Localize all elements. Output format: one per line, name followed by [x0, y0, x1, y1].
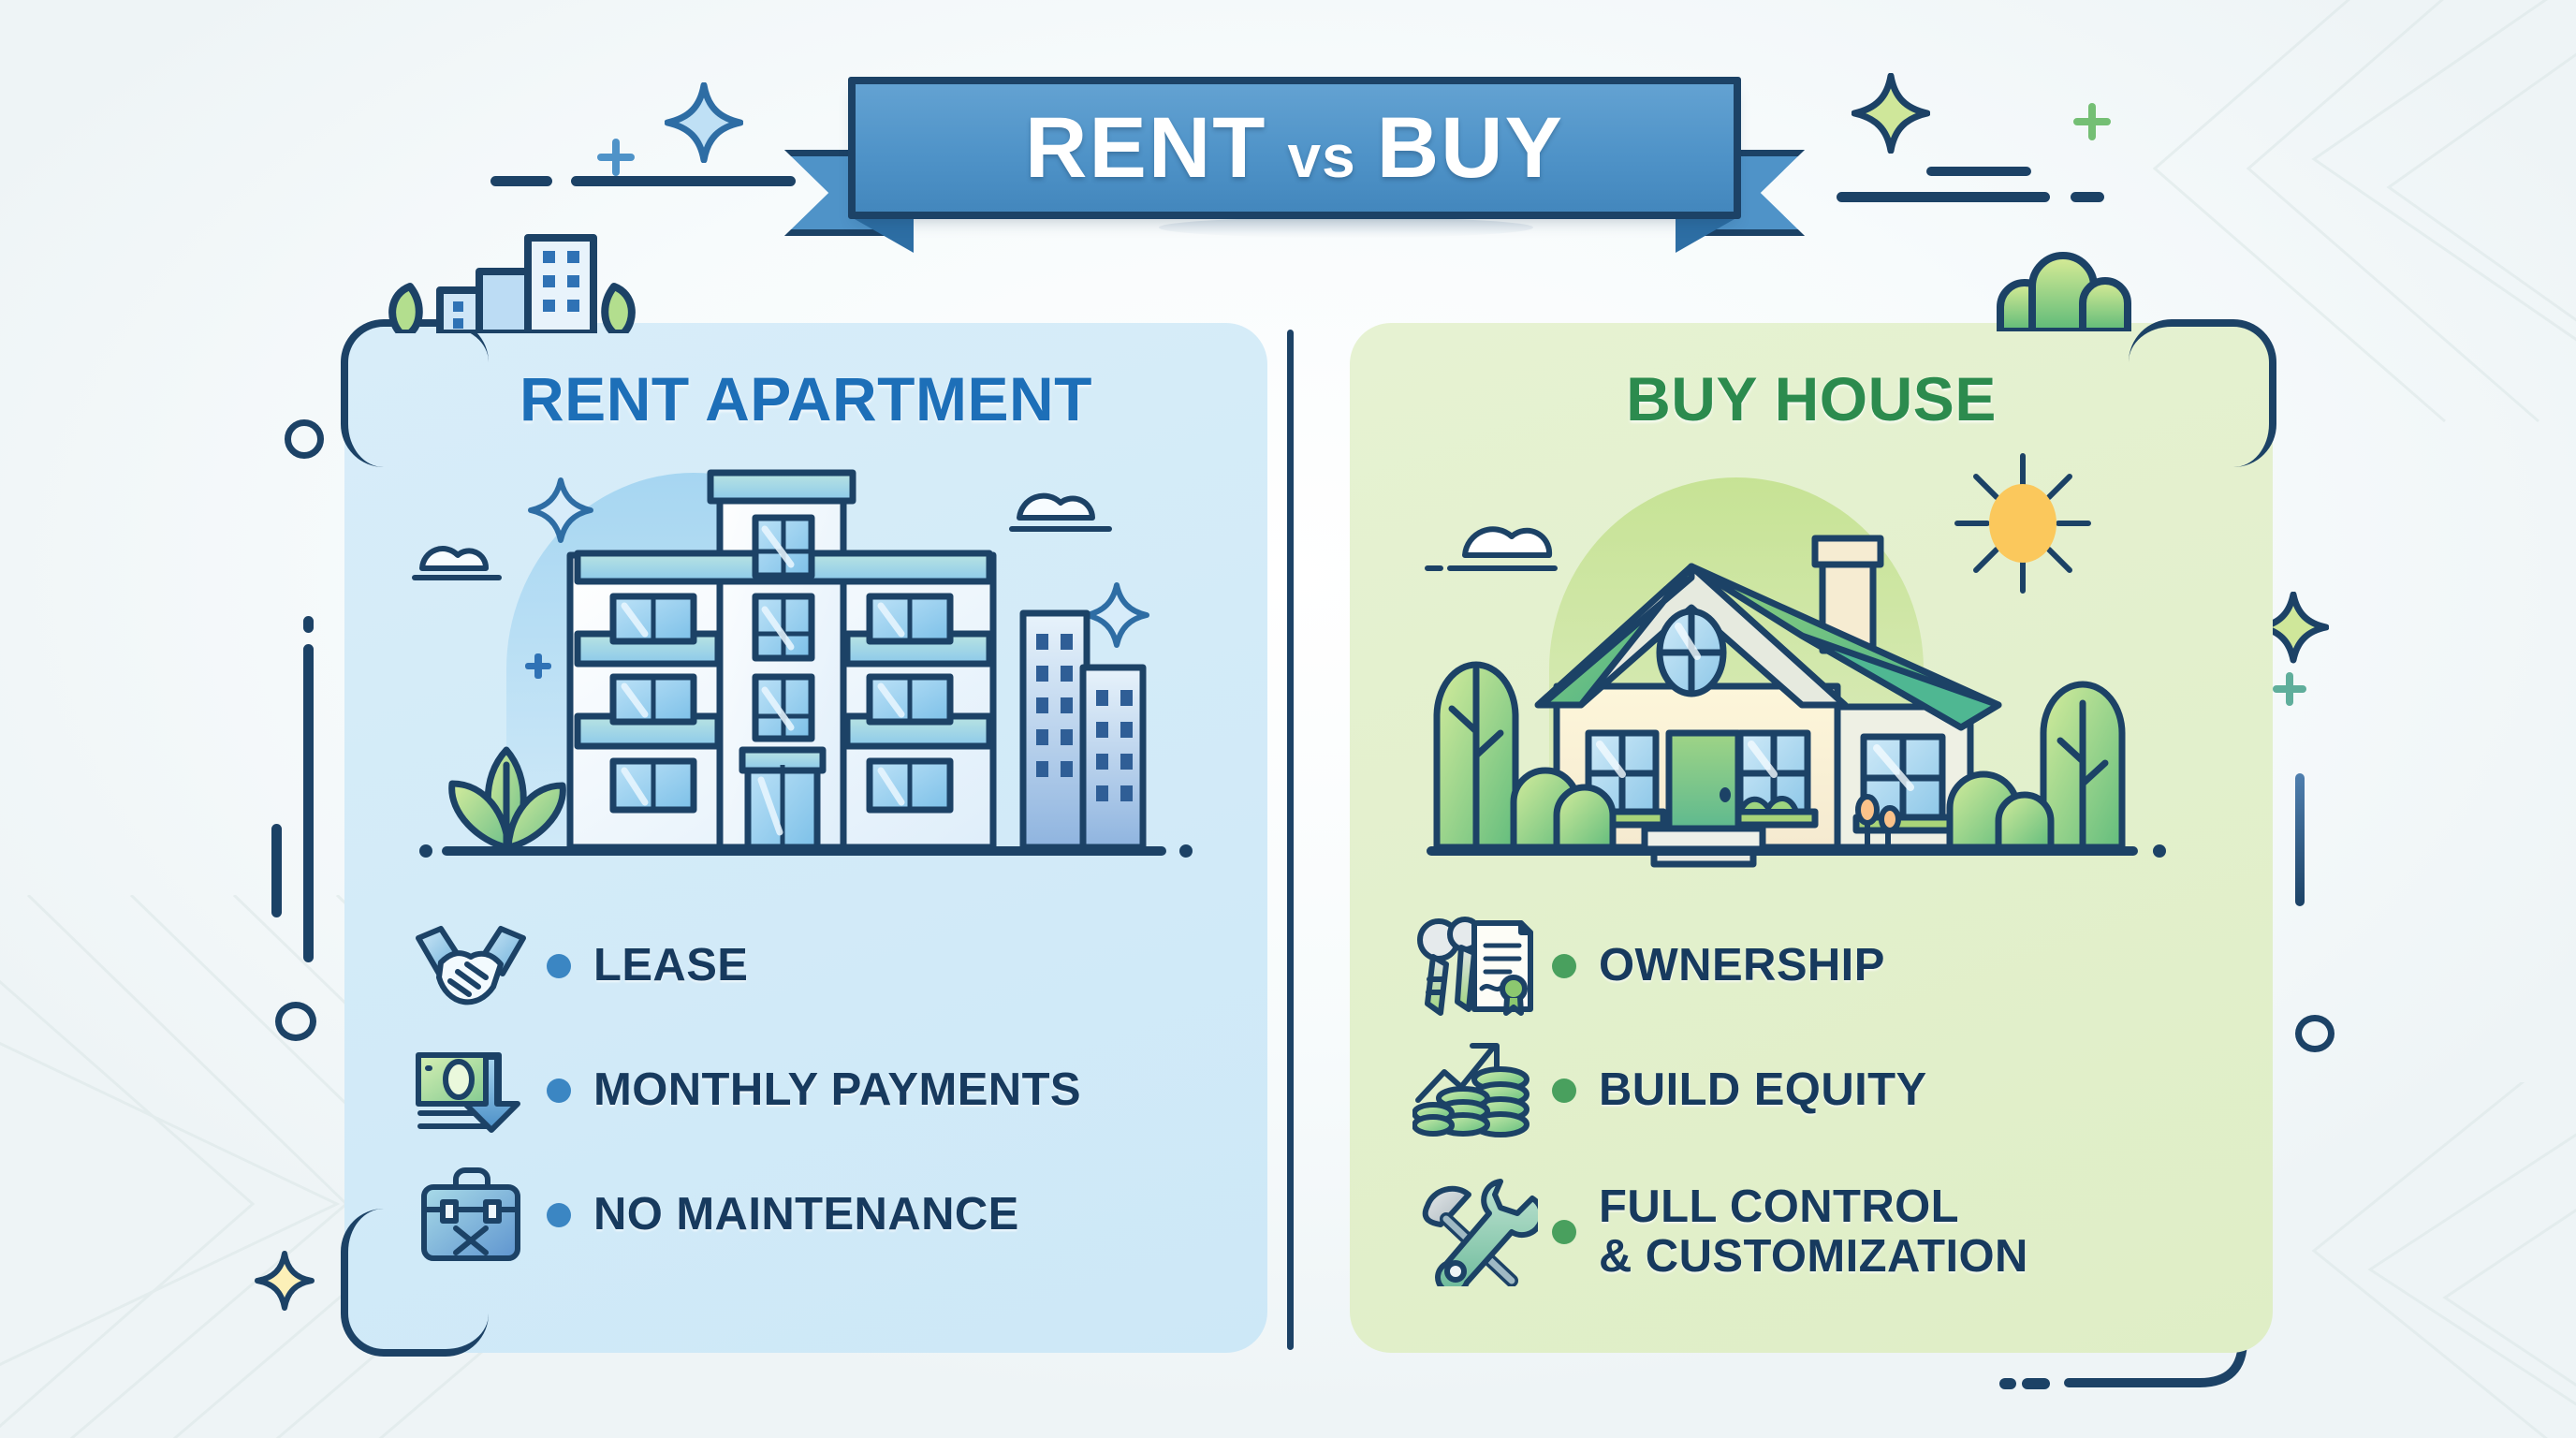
vertical-divider-line [1287, 330, 1294, 1350]
list-item-label: OWNERSHIP [1599, 941, 1885, 990]
sparkle-blue-top-left [665, 82, 743, 163]
list-item[interactable]: FULL CONTROL & CUSTOMIZATION [1406, 1152, 2235, 1312]
handshake-icon [401, 910, 541, 1022]
dash-top-right-long-upper [1926, 167, 2031, 176]
corner-bracket-top-left-icon [337, 178, 346, 187]
ribbon-band: RENTvsBUY [848, 77, 1741, 219]
panel-rent[interactable]: RENT APARTMENT [344, 323, 1267, 1353]
list-item-label: BUILD EQUITY [1599, 1065, 1927, 1115]
panel-buy[interactable]: BUY HOUSE [1350, 323, 2273, 1353]
title-ribbon: RENTvsBUY [784, 77, 1805, 227]
list-item-label: MONTHLY PAYMENTS [593, 1065, 1081, 1115]
plus-green-top-right [2073, 103, 2111, 140]
bullet-dot [1552, 1078, 1576, 1103]
title-word-rent: RENT [1025, 100, 1266, 196]
panel-rent-corner-bottom-left [341, 1209, 489, 1357]
panel-buy-corner-top-right [2129, 319, 2276, 467]
money-down-arrow-icon [401, 1034, 541, 1147]
list-item-label: FULL CONTROL & CUSTOMIZATION [1599, 1182, 2028, 1282]
ribbon-shadow [1159, 217, 1533, 238]
list-item[interactable]: OWNERSHIP [1406, 903, 2235, 1028]
city-buildings-with-leaves-icon [378, 223, 650, 333]
sparkle-green-top-right [1851, 73, 1930, 154]
bullet-dot [1552, 1220, 1576, 1244]
bullet-dot [547, 1203, 571, 1227]
sparkle-yellow-bottom-left [255, 1251, 315, 1313]
list-item[interactable]: BUILD EQUITY [1406, 1028, 2235, 1152]
dash-left-medium [271, 824, 282, 917]
list-item-label: LEASE [593, 941, 748, 990]
ring-right-lower [2295, 1015, 2334, 1052]
bullet-dot [547, 1078, 571, 1103]
dash-top-left-short [490, 176, 552, 186]
dash-top-right-long-lower [1837, 192, 2050, 202]
title-word-vs: vs [1288, 123, 1356, 190]
page-title: RENTvsBUY [1025, 105, 1564, 191]
dash-bottom-right-dot-a [1999, 1378, 2016, 1389]
list-item[interactable]: LEASE [401, 903, 1230, 1028]
bullet-dot [1552, 954, 1576, 978]
plus-teal-right [2273, 672, 2306, 706]
coins-growth-chart-icon [1406, 1034, 1546, 1147]
list-item-label-line1: FULL CONTROL [1599, 1182, 2028, 1232]
dash-top-left-long [571, 176, 796, 186]
panel-rent-bullet-list: LEASE [401, 903, 1230, 1277]
plus-blue-top-left [597, 139, 635, 176]
panel-rent-surface: RENT APARTMENT [344, 323, 1267, 1353]
single-family-house-illustration [1350, 435, 2273, 875]
keys-and-deed-icon [1406, 910, 1546, 1022]
list-item-label-line2: & CUSTOMIZATION [1599, 1232, 2028, 1282]
apartment-building-illustration [344, 435, 1267, 875]
bullet-dot [547, 954, 571, 978]
list-item[interactable]: MONTHLY PAYMENTS [401, 1028, 1230, 1152]
panel-buy-surface: BUY HOUSE [1350, 323, 2273, 1353]
dash-bottom-right-dot-b [2022, 1378, 2050, 1389]
title-word-buy: BUY [1377, 100, 1564, 196]
ring-left-lower [275, 1002, 316, 1041]
infographic-canvas: RENTvsBUY RENT APARTMENT [0, 0, 2576, 1438]
panel-buy-bullet-list: OWNERSHIP [1406, 903, 2235, 1312]
list-item-label: NO MAINTENANCE [593, 1190, 1019, 1240]
list-item[interactable]: NO MAINTENANCE [401, 1152, 1230, 1277]
dash-top-right-short [2071, 192, 2104, 202]
bushes-decoration-icon [1989, 242, 2186, 331]
dash-left-long [303, 644, 314, 962]
dash-right-medium [2295, 773, 2305, 906]
ring-left-upper [285, 419, 324, 459]
panel-rent-corner-top-left [341, 319, 489, 467]
dash-left-tiny [303, 616, 314, 633]
hammer-wrench-icon [1406, 1176, 1546, 1288]
